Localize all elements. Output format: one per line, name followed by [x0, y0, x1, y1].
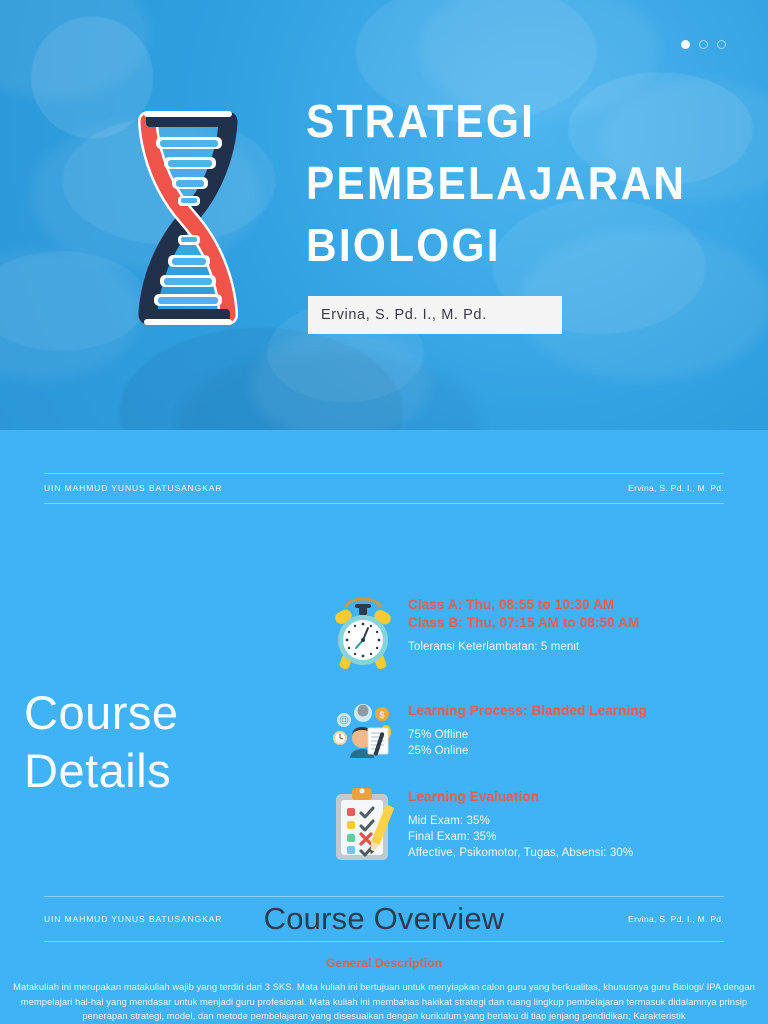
general-description-body: Matakuliah ini merupakan matakuliah waji… [6, 980, 762, 1024]
student-learning-icon: $ [330, 700, 396, 762]
section-title-line-1: Course [24, 684, 179, 742]
pager-dots[interactable] [681, 40, 726, 49]
schedule-tolerance: Toleransi Keterlambatan: 5 menit [408, 639, 639, 655]
learning-process-offline: 75% Offline [408, 727, 647, 743]
detail-item-evaluation-text: Learning Evaluation Mid Exam: 35% Final … [408, 786, 633, 864]
author-label: Ervina, S. Pd. I., M. Pd. [628, 483, 724, 493]
organization-label: UIN MAHMUD YUNUS BATUSANGKAR [44, 914, 222, 924]
section-title-line-2: Details [24, 742, 179, 800]
evaluation-final-exam: Final Exam: 35% [408, 829, 633, 845]
pager-dot-active-icon[interactable] [681, 40, 690, 49]
author-label: Ervina, S. Pd. I., M. Pd. [628, 914, 724, 924]
overview-header: UIN MAHMUD YUNUS BATUSANGKAR Course Over… [44, 880, 724, 942]
clipboard-checklist-icon [330, 786, 396, 864]
dna-helix-icon [118, 103, 258, 338]
detail-item-learning-process-text: Learning Process: Blanded Learning 75% O… [408, 700, 647, 762]
presentation-page: STRATEGI PEMBELAJARAN BIOLOGI Ervina, S.… [0, 0, 768, 1024]
pager-dot-icon[interactable] [717, 40, 726, 49]
organization-label: UIN MAHMUD YUNUS BATUSANGKAR [44, 483, 222, 493]
title-slide: STRATEGI PEMBELAJARAN BIOLOGI Ervina, S.… [0, 0, 768, 430]
alarm-clock-icon [330, 594, 396, 672]
learning-process-lines: 75% Offline 25% Online [408, 727, 647, 759]
pager-dot-icon[interactable] [699, 40, 708, 49]
details-body: Course Details [0, 504, 768, 844]
background-blob [250, 330, 430, 430]
general-description-heading: General Description [0, 956, 768, 970]
learning-process-online: 25% Online [408, 743, 647, 759]
learning-process-title: Learning Process: Blanded Learning [408, 702, 647, 720]
course-overview-slide: UIN MAHMUD YUNUS BATUSANGKAR Course Over… [0, 880, 768, 1024]
title-line-1: STRATEGI [306, 90, 674, 152]
evaluation-mid-exam: Mid Exam: 35% [408, 813, 633, 829]
schedule-class-a: Class A: Thu, 08:55 to 10:30 AM [408, 596, 639, 614]
details-header: UIN MAHMUD YUNUS BATUSANGKAR Ervina, S. … [44, 430, 724, 504]
presentation-title: STRATEGI PEMBELAJARAN BIOLOGI [306, 90, 706, 276]
overview-rule-bottom [44, 941, 724, 942]
evaluation-lines: Mid Exam: 35% Final Exam: 35% Affective,… [408, 813, 633, 861]
schedule-class-b: Class B: Thu, 07:15 AM to 08:50 AM [408, 614, 639, 632]
detail-item-learning-process: $ [330, 700, 647, 762]
presenter-name: Ervina, S. Pd. I., M. Pd. [308, 307, 487, 323]
presenter-name-box: Ervina, S. Pd. I., M. Pd. [308, 296, 562, 334]
detail-item-schedule: Class A: Thu, 08:55 to 10:30 AM Class B:… [330, 594, 639, 672]
detail-item-evaluation: Learning Evaluation Mid Exam: 35% Final … [330, 786, 633, 864]
background-blob [0, 0, 150, 100]
svg-text:$: $ [379, 710, 384, 720]
title-line-2: PEMBELAJARAN [306, 152, 674, 214]
title-line-3: BIOLOGI [306, 214, 674, 276]
evaluation-title: Learning Evaluation [408, 788, 633, 806]
section-title: Course Details [24, 684, 179, 800]
course-details-slide: UIN MAHMUD YUNUS BATUSANGKAR Ervina, S. … [0, 430, 768, 880]
evaluation-other: Affective, Psikomotor, Tugas, Absensi: 3… [408, 845, 633, 861]
detail-item-schedule-text: Class A: Thu, 08:55 to 10:30 AM Class B:… [408, 594, 639, 672]
